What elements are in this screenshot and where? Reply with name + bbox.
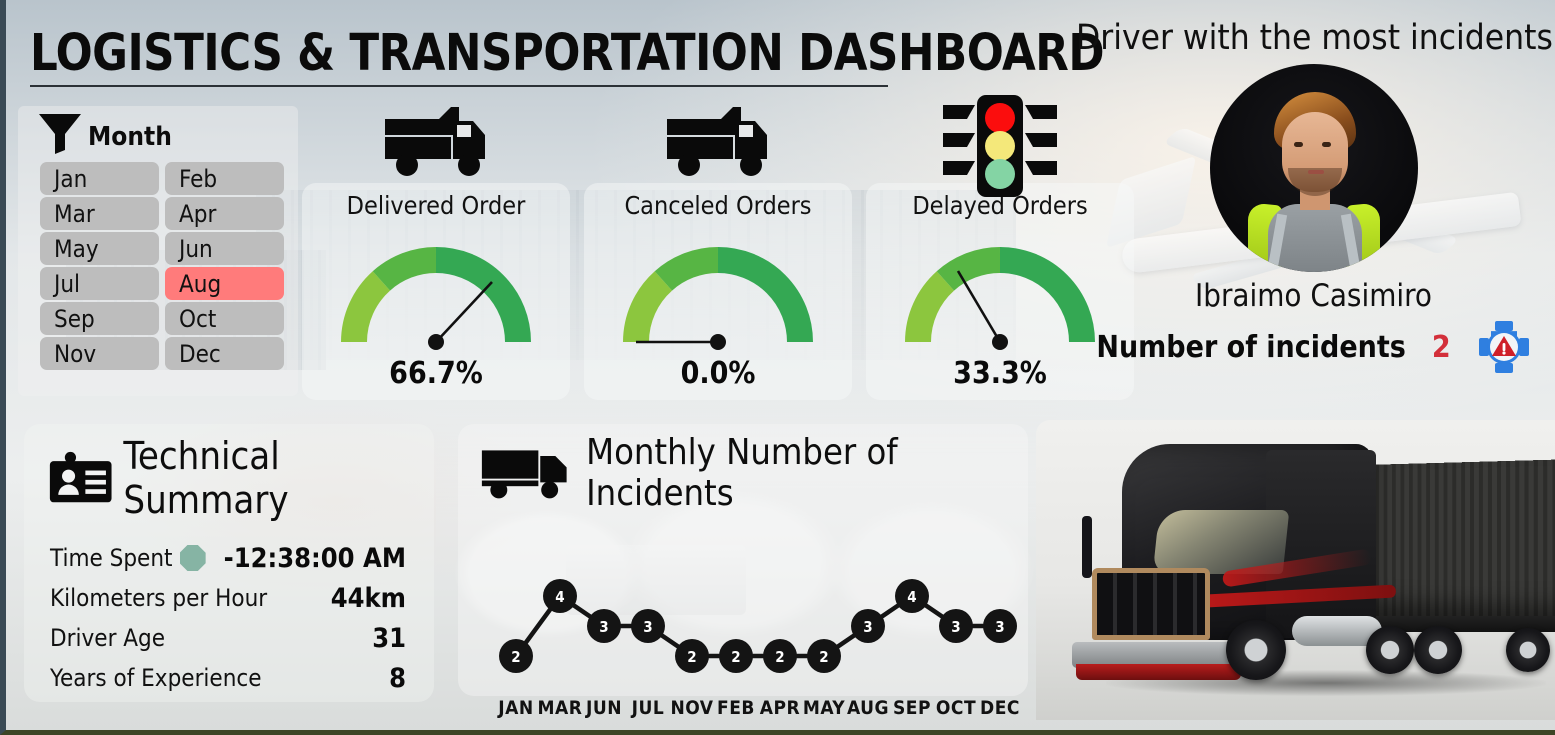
x-tick-label: APR xyxy=(760,697,800,719)
chart-point-feb: 2 xyxy=(719,639,753,673)
x-tick-label: MAR xyxy=(538,697,583,719)
month-button-dec[interactable]: Dec xyxy=(165,337,284,370)
kpi-title-canceled: Canceled Orders xyxy=(584,183,852,220)
chart-point-oct: 3 xyxy=(939,609,973,643)
tech-key: Years of Experience xyxy=(50,664,262,692)
svg-text:2: 2 xyxy=(511,648,520,666)
tech-row-time-spent: Time Spent -12:38:00 AM xyxy=(50,540,406,576)
kpi-icon-wrap-delivered xyxy=(302,95,570,179)
chart-point-jul: 3 xyxy=(631,609,665,643)
month-grid: Jan Feb Mar Apr May Jun Jul Aug Sep Oct … xyxy=(40,162,284,370)
month-button-feb[interactable]: Feb xyxy=(165,162,284,195)
incident-row: Number of incidents 2 xyxy=(1076,320,1551,374)
month-button-oct[interactable]: Oct xyxy=(165,302,284,335)
chart-point-dec: 3 xyxy=(983,609,1017,643)
month-filter-header: Month xyxy=(18,106,298,160)
gauge-canceled xyxy=(584,242,852,354)
tech-value: 31 xyxy=(372,623,406,654)
tech-row-driver-age: Driver Age 31 xyxy=(50,620,406,656)
tech-key: Kilometers per Hour xyxy=(50,584,267,612)
kpi-icon-wrap-canceled xyxy=(584,95,852,179)
x-tick-label: DEC xyxy=(980,697,1020,719)
gear-warning-icon xyxy=(1477,320,1531,374)
semi-truck-photo xyxy=(1036,420,1555,720)
dump-truck-icon xyxy=(381,105,491,179)
x-tick-label: OCT xyxy=(936,697,976,719)
month-button-aug[interactable]: Aug xyxy=(165,267,284,300)
status-dot-icon xyxy=(180,545,206,571)
chart-point-nov: 2 xyxy=(675,639,709,673)
tech-value: 8 xyxy=(389,663,406,694)
x-tick-label: MAY xyxy=(803,697,845,719)
chart-point-may: 2 xyxy=(807,639,841,673)
month-button-nov[interactable]: Nov xyxy=(40,337,159,370)
technical-summary-card: Technical Summary Time Spent -12:38:00 A… xyxy=(24,424,434,702)
svg-text:4: 4 xyxy=(907,588,916,606)
kpi-row: Delivered Order 66.7% xyxy=(302,183,1134,400)
kpi-value-canceled: 0.0% xyxy=(584,356,852,391)
chart-point-jun: 3 xyxy=(587,609,621,643)
month-button-jan[interactable]: Jan xyxy=(40,162,159,195)
incidents-count: 2 xyxy=(1432,330,1451,365)
page-title: LOGISTICS & TRANSPORTATION DASHBOARD xyxy=(30,24,847,83)
kpi-title-delivered: Delivered Order xyxy=(302,183,570,220)
svg-text:3: 3 xyxy=(951,618,960,636)
svg-text:2: 2 xyxy=(731,648,740,666)
svg-text:3: 3 xyxy=(863,618,872,636)
driver-card-title: Driver with the most incidents xyxy=(1076,18,1551,58)
x-tick-label: AUG xyxy=(847,697,889,719)
dashboard-root: LOGISTICS & TRANSPORTATION DASHBOARD Mon… xyxy=(0,0,1555,735)
incidents-chart-title: Monthly Number of Incidents xyxy=(586,432,1028,514)
x-tick-label: FEB xyxy=(717,697,755,719)
kpi-card-delivered: Delivered Order 66.7% xyxy=(302,183,570,400)
tech-row-kilometers-per-hour: Kilometers per Hour 44km xyxy=(50,580,406,616)
traffic-light-icon xyxy=(935,93,1065,203)
month-button-jun[interactable]: Jun xyxy=(165,232,284,265)
delivery-truck-icon xyxy=(480,445,574,501)
x-tick-label: JUL xyxy=(631,697,665,719)
incidents-line-chart: 2 4 3 3 2 2 2 xyxy=(458,516,1028,721)
id-card-icon xyxy=(48,450,113,506)
tech-row-years-of-experience: Years of Experience 8 xyxy=(50,660,406,696)
chart-point-mar: 4 xyxy=(543,579,577,613)
month-button-may[interactable]: May xyxy=(40,232,159,265)
technical-summary-title: Technical Summary xyxy=(123,434,434,522)
dump-truck-icon xyxy=(663,105,773,179)
incidents-chart-header: Monthly Number of Incidents xyxy=(458,424,1028,514)
funnel-icon xyxy=(36,110,84,154)
page-title-block: LOGISTICS & TRANSPORTATION DASHBOARD xyxy=(30,24,890,87)
svg-text:2: 2 xyxy=(687,648,696,666)
title-underline xyxy=(30,85,888,87)
x-tick-label: JUN xyxy=(585,697,622,719)
technical-summary-header: Technical Summary xyxy=(24,424,434,522)
month-button-mar[interactable]: Mar xyxy=(40,197,159,230)
svg-text:2: 2 xyxy=(775,648,784,666)
month-filter-label: Month xyxy=(88,124,172,150)
x-tick-label: JAN xyxy=(497,697,533,719)
kpi-value-delivered: 66.7% xyxy=(302,356,570,391)
tech-value: 44km xyxy=(331,583,406,614)
svg-text:3: 3 xyxy=(643,618,652,636)
svg-text:3: 3 xyxy=(995,618,1004,636)
incidents-chart-card: Monthly Number of Incidents 2 4 3 3 xyxy=(458,424,1028,696)
chart-point-jan: 2 xyxy=(499,639,533,673)
svg-text:2: 2 xyxy=(819,648,828,666)
tech-key: Time Spent xyxy=(50,544,172,572)
month-filter-panel: Month Jan Feb Mar Apr May Jun Jul Aug Se… xyxy=(18,106,298,396)
avatar xyxy=(1210,64,1418,272)
x-tick-label: SEP xyxy=(893,697,931,719)
incidents-label: Number of incidents xyxy=(1096,330,1405,365)
tech-key: Driver Age xyxy=(50,624,165,652)
svg-text:4: 4 xyxy=(555,588,564,606)
chart-point-apr: 2 xyxy=(763,639,797,673)
tech-value-wrap: -12:38:00 AM xyxy=(180,543,406,574)
driver-name: Ibraimo Casimiro xyxy=(1076,278,1551,314)
kpi-card-canceled: Canceled Orders 0.0% xyxy=(584,183,852,400)
svg-text:3: 3 xyxy=(599,618,608,636)
tech-value: -12:38:00 AM xyxy=(224,543,406,574)
month-button-jul[interactable]: Jul xyxy=(40,267,159,300)
technical-summary-rows: Time Spent -12:38:00 AM Kilometers per H… xyxy=(50,540,406,696)
driver-card: Driver with the most incidents Ibraimo C… xyxy=(1076,18,1551,393)
month-button-sep[interactable]: Sep xyxy=(40,302,159,335)
chart-point-aug: 3 xyxy=(851,609,885,643)
chart-point-sep: 4 xyxy=(895,579,929,613)
x-tick-label: NOV xyxy=(670,697,713,719)
gauge-delivered xyxy=(302,242,570,354)
month-button-apr[interactable]: Apr xyxy=(165,197,284,230)
